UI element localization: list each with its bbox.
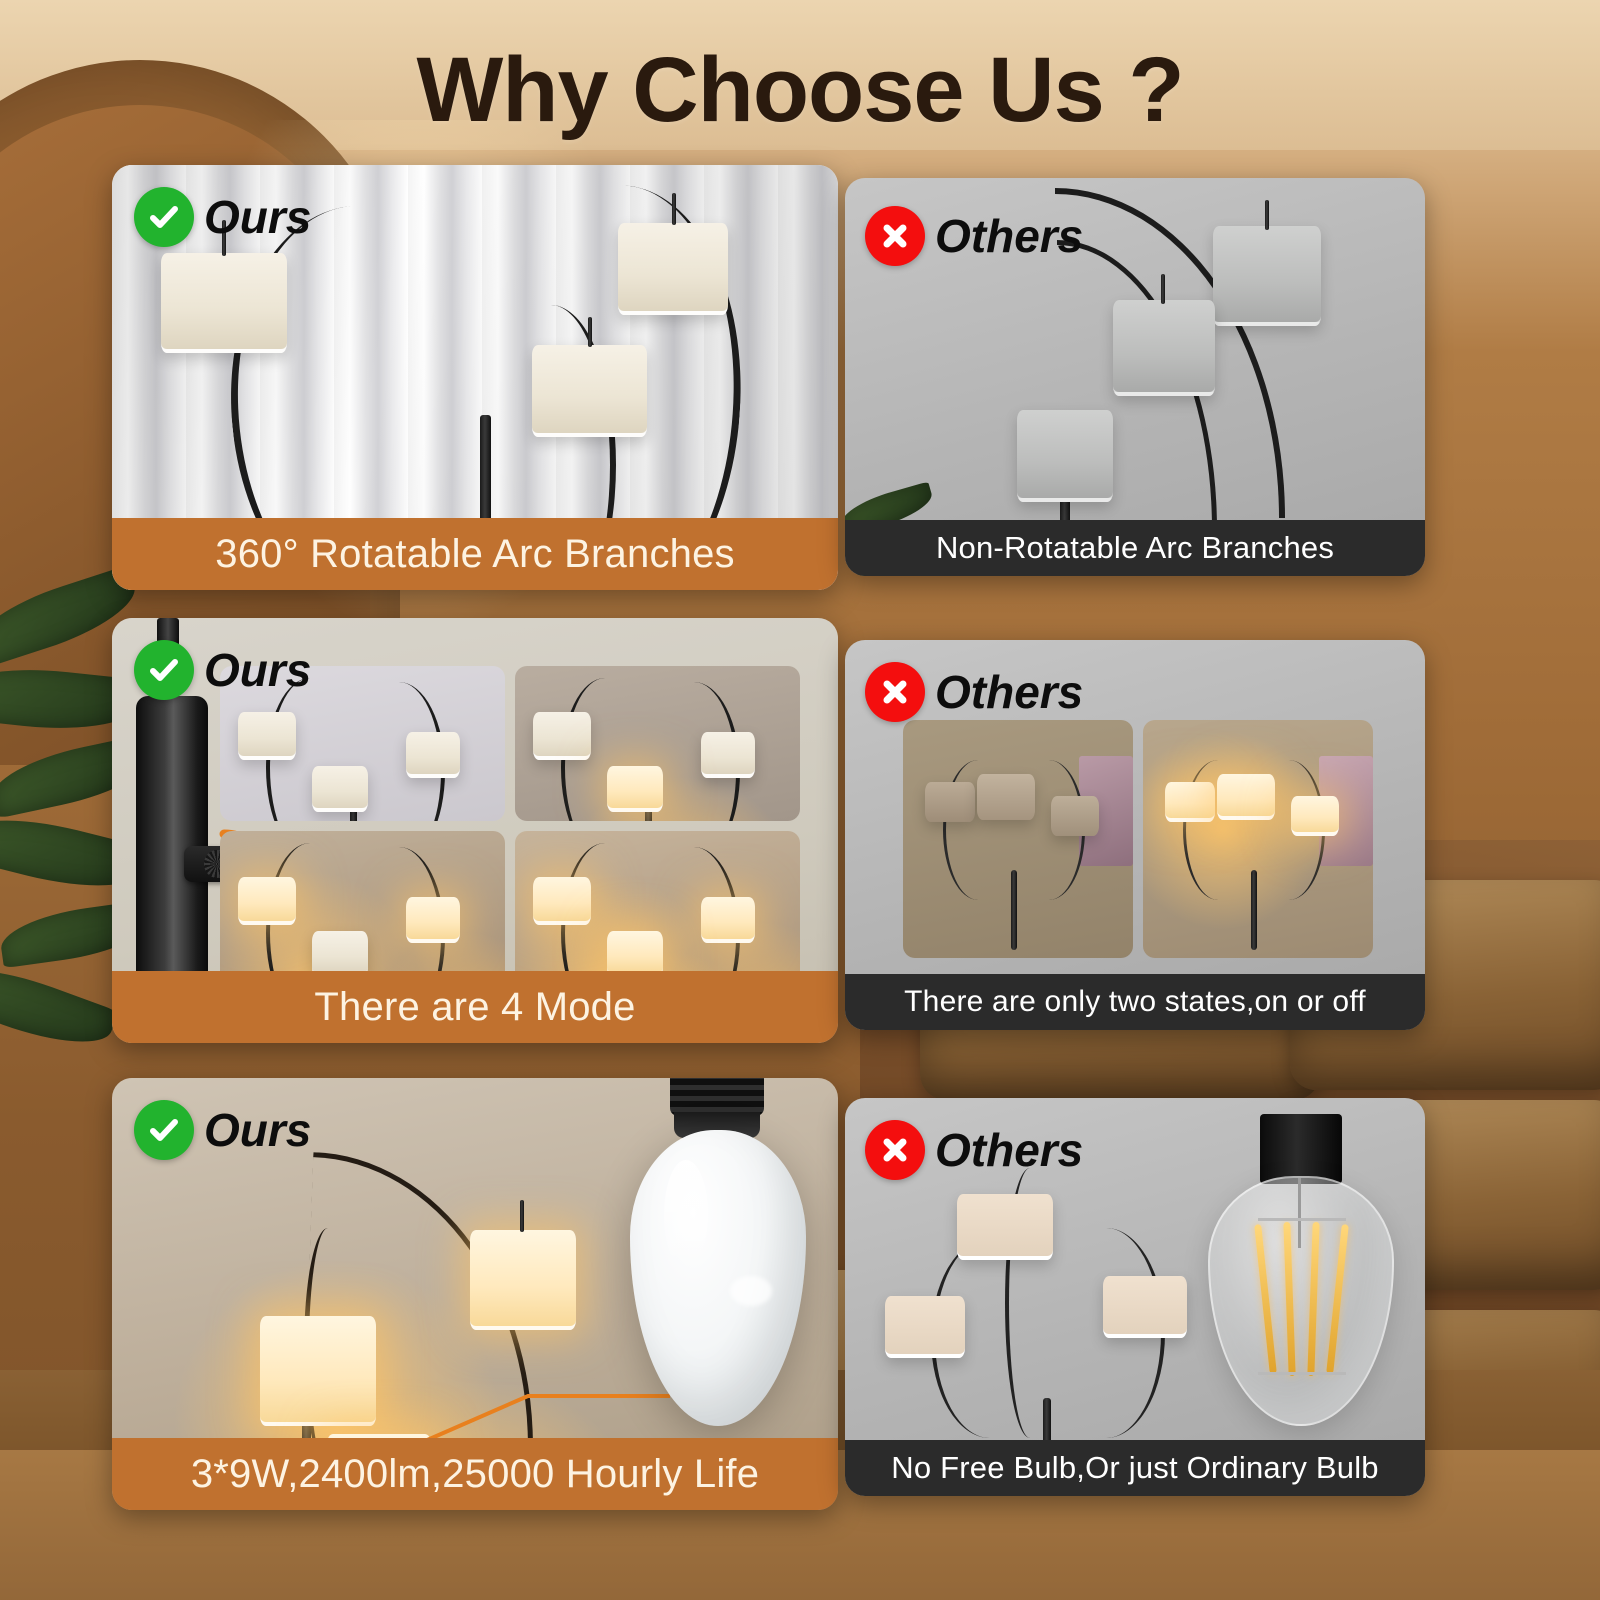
- badge-label: Ours: [204, 1107, 311, 1153]
- lampshade-center: [532, 345, 647, 437]
- lampshade-bottom: [1017, 410, 1113, 502]
- badge-label: Ours: [204, 194, 311, 240]
- check-icon: [134, 187, 194, 247]
- lampshade-right: [618, 223, 728, 315]
- lamp-drop-top: [1265, 200, 1269, 230]
- filament-bulb: [1200, 1114, 1400, 1444]
- lamp-drop-right: [672, 193, 676, 225]
- panel-others-bulb[interactable]: No Free Bulb,Or just Ordinary Bulb Other…: [845, 1098, 1425, 1496]
- check-icon: [134, 1100, 194, 1160]
- badge-ours-rotation: Ours: [134, 187, 311, 247]
- panel-others-bulb-caption: No Free Bulb,Or just Ordinary Bulb: [845, 1440, 1425, 1496]
- lamp-drop-middle: [1161, 274, 1165, 304]
- panel-ours-modes[interactable]: There are 4 Mode Ours: [112, 618, 838, 1043]
- mode-thumbnail-4[interactable]: [515, 831, 800, 986]
- panel-ours-bulb-caption: 3*9W,2400lm,25000 Hourly Life: [112, 1438, 838, 1510]
- badge-label: Others: [935, 213, 1083, 259]
- lampshade-left: [161, 253, 287, 353]
- cross-icon: [865, 662, 925, 722]
- bulb-glass: [1208, 1176, 1394, 1426]
- badge-others-rotation: Others: [865, 206, 1083, 266]
- state-thumbnail-on[interactable]: [1143, 720, 1373, 958]
- badge-ours-modes: Ours: [134, 640, 311, 700]
- badge-label: Others: [935, 669, 1083, 715]
- cross-icon: [865, 206, 925, 266]
- panel-others-modes-caption: There are only two states,on or off: [845, 974, 1425, 1030]
- mode-thumbnail-2[interactable]: [515, 666, 800, 821]
- state-thumbnail-grid: [903, 720, 1373, 958]
- state-thumbnail-off[interactable]: [903, 720, 1133, 958]
- led-bulb: [612, 1078, 822, 1468]
- lampshade-left: [885, 1296, 965, 1358]
- badge-others-bulb: Others: [865, 1120, 1083, 1180]
- filament-bridge-bottom: [1258, 1372, 1346, 1375]
- panel-others-rotation-caption: Non-Rotatable Arc Branches: [845, 520, 1425, 576]
- badge-ours-bulb: Ours: [134, 1100, 311, 1160]
- lampshade-upper-left: [260, 1316, 376, 1426]
- bulb-base-cap: [1260, 1114, 1342, 1184]
- lampshade-top: [1213, 226, 1321, 326]
- lamp-drop-right: [520, 1200, 524, 1232]
- filament-bridge-top: [1258, 1218, 1346, 1221]
- mode-thumbnail-grid: [220, 666, 800, 986]
- page-title: Why Choose Us ?: [0, 38, 1600, 143]
- badge-label: Ours: [204, 647, 311, 693]
- lampshade-right: [1103, 1276, 1187, 1338]
- lamp-drop-center: [588, 317, 592, 347]
- panel-others-rotation[interactable]: Non-Rotatable Arc Branches Others: [845, 178, 1425, 576]
- bulb-base-threads: [670, 1078, 764, 1116]
- panel-ours-rotation-caption: 360° Rotatable Arc Branches: [112, 518, 838, 590]
- filament-stem: [1298, 1178, 1301, 1248]
- bulb-reflection-spot: [730, 1276, 772, 1306]
- lampshade-top: [957, 1194, 1053, 1260]
- mode-thumbnail-3[interactable]: [220, 831, 505, 986]
- lampshade-right: [470, 1230, 576, 1330]
- badge-label: Others: [935, 1127, 1083, 1173]
- lampshade-middle: [1113, 300, 1215, 396]
- panel-others-modes[interactable]: There are only two states,on or off Othe…: [845, 640, 1425, 1030]
- bulb-glass: [630, 1130, 806, 1426]
- panel-ours-bulb[interactable]: 3*9W,2400lm,25000 Hourly Life Ours: [112, 1078, 838, 1510]
- cross-icon: [865, 1120, 925, 1180]
- panel-ours-rotation[interactable]: 360° Rotatable Arc Branches Ours: [112, 165, 838, 590]
- bulb-highlight: [664, 1160, 708, 1270]
- badge-others-modes: Others: [865, 662, 1083, 722]
- panel-ours-modes-caption: There are 4 Mode: [112, 971, 838, 1043]
- check-icon: [134, 640, 194, 700]
- comparison-grid: 360° Rotatable Arc Branches Ours: [0, 0, 1600, 1600]
